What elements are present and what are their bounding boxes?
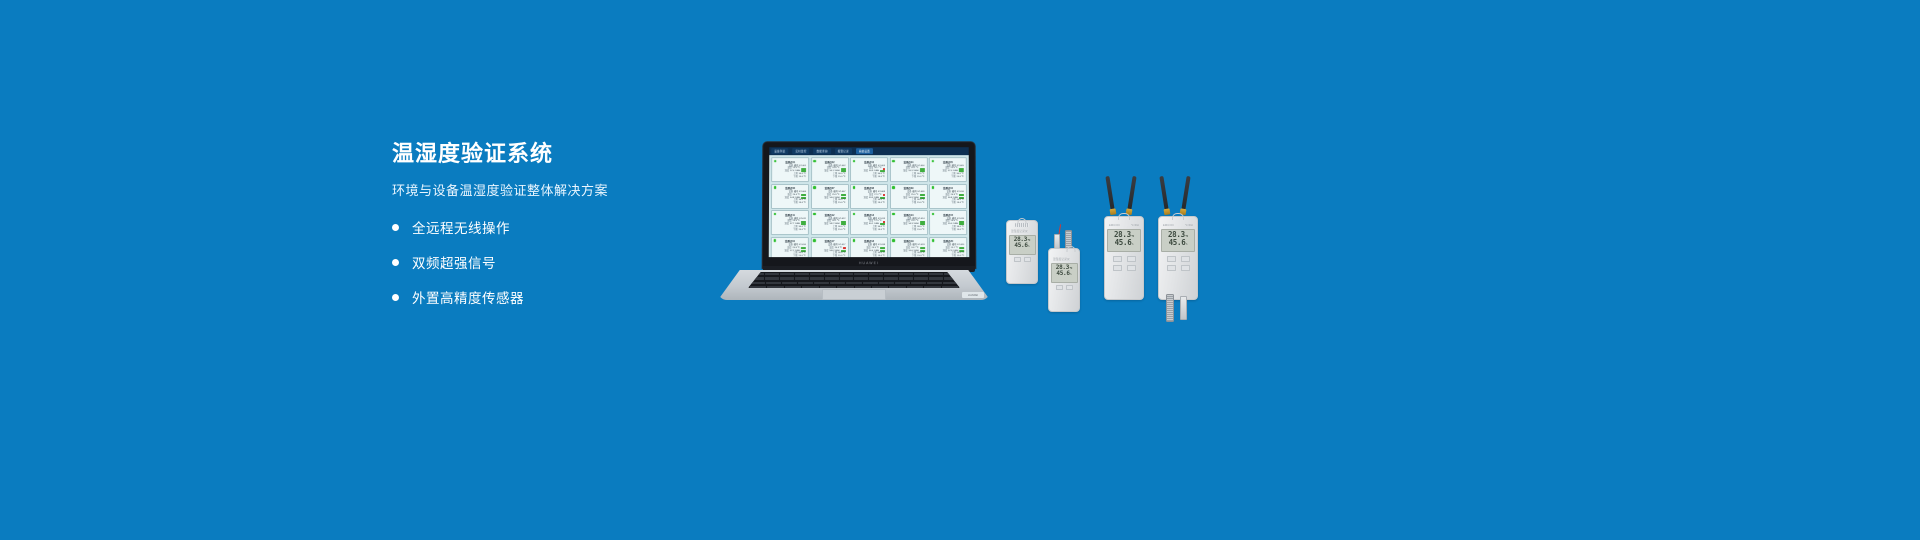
hanger-hook-icon (1066, 246, 1075, 252)
monitor-card[interactable]: 监测点09设备编号 ST-009温度25.0 ℃湿度55.9 %RH上限30.0… (889, 184, 927, 209)
antenna-icon (1105, 176, 1114, 210)
monitor-card-title: 监测点07 (814, 186, 846, 190)
monitor-card[interactable]: 监测点02设备编号 ST-002温度24.8 ℃湿度56.1 %RH上限30.0… (811, 157, 849, 182)
alarm-badge (883, 168, 885, 170)
monitor-card[interactable]: 监测点08设备编号 ST-008温度27.2 ℃湿度59.5 %RH上限30.0… (850, 184, 888, 209)
device-brand-left: 温湿度记录仪 (1011, 229, 1028, 233)
monitor-card-row-key: 湿度 (824, 197, 828, 200)
monitor-card-row-key: 湿度 (943, 250, 947, 253)
device-lcd: 28.3℃ 45.6% (1051, 263, 1078, 283)
device-buttons[interactable] (1105, 265, 1143, 271)
status-led-icon (773, 239, 776, 242)
keyboard-row (748, 285, 960, 288)
monitor-card-title: 监测点19 (893, 239, 925, 243)
alarm-badge (843, 247, 845, 249)
monitor-card-row: 下限15.0 ℃ (853, 202, 885, 205)
device-buttons[interactable] (1049, 285, 1079, 290)
device-button[interactable] (1113, 256, 1122, 262)
device-buttons[interactable] (1159, 256, 1197, 262)
device-button[interactable] (1167, 265, 1176, 271)
status-badge (920, 247, 925, 249)
monitor-card-title: 监测点08 (853, 186, 885, 190)
status-led-icon (852, 212, 855, 215)
device-button[interactable] (1127, 256, 1136, 262)
monitor-card-row-key: 下限 (912, 176, 916, 179)
monitor-card-row-key: 湿度 (903, 250, 907, 253)
monitor-card-row-value: 15.0 ℃ (917, 202, 924, 205)
bullet-dot-icon (392, 259, 399, 266)
device-button[interactable] (1167, 256, 1176, 262)
monitor-card[interactable]: 监测点04设备编号 ST-004温度25.1 ℃湿度55.3 %RH上限30.0… (889, 157, 927, 182)
monitor-card-title: 监测点04 (892, 160, 924, 164)
monitor-card-row: 下限15.0 ℃ (774, 229, 806, 232)
bullet-dot-icon (392, 224, 399, 231)
monitor-card-row: 下限15.0 ℃ (853, 229, 885, 232)
status-led-icon (774, 160, 777, 163)
status-led-icon (813, 239, 816, 242)
monitor-card-row-value: 15.0 ℃ (878, 229, 885, 232)
monitor-card-row-key: 湿度 (824, 223, 828, 226)
humidity-value: 45.6 (1014, 243, 1027, 249)
device-button[interactable] (1056, 285, 1063, 290)
device-button[interactable] (1127, 265, 1136, 271)
list-item: 全远程无线操作 (392, 217, 692, 237)
probe-connector-icon (1054, 234, 1060, 249)
menu-item-alarm-log[interactable]: 报警记录 (835, 148, 852, 154)
monitor-card-title: 监测点10 (932, 186, 964, 190)
monitor-card-row-key: 湿度 (864, 170, 868, 173)
status-badge (959, 168, 964, 170)
humidity-unit: % (1028, 246, 1029, 248)
status-led-icon (892, 160, 895, 163)
humidity-unit: % (1132, 244, 1133, 246)
device-body: 温湿度记录仪 28.3℃ 45.6% (1048, 248, 1080, 312)
monitor-card-title: 监测点17 (813, 239, 845, 243)
device-brand-left: EMCON (1163, 224, 1174, 227)
monitor-card-row-key: 下限 (951, 229, 955, 232)
laptop-screen: 设备列表 实时监控 数据查询 报警记录 系统设置 监测点01设备编号 ST-00… (769, 147, 970, 257)
device-brand-left: 温湿度记录仪 (1053, 257, 1070, 261)
status-led-icon (892, 239, 895, 242)
status-badge (801, 168, 806, 170)
laptop-keyboard[interactable] (748, 272, 960, 288)
feature-label: 全远程无线操作 (412, 217, 510, 237)
monitor-card-row: 下限15.0 ℃ (853, 176, 885, 179)
monitor-card-row: 下限15.0 ℃ (814, 202, 846, 205)
feature-list: 全远程无线操作 双频超强信号 外置高精度传感器 (392, 217, 692, 307)
device-buttons[interactable] (1105, 256, 1143, 262)
device-button[interactable] (1181, 256, 1190, 262)
device-wireless-logger-1: EMCON ℃/RH 28.3℃ 45.6% (1104, 176, 1144, 300)
monitor-card-row-key: 湿度 (824, 170, 828, 173)
monitor-card[interactable]: 监测点17设备编号 ST-017温度26.3 ℃湿度58.6 %RH上限30.0… (810, 237, 848, 258)
device-button[interactable] (1014, 257, 1021, 262)
monitor-card-row-key: 湿度 (903, 197, 907, 200)
device-brand-left: EMCON (1109, 224, 1120, 227)
monitor-card-row-key: 下限 (872, 229, 876, 232)
status-badge (920, 221, 925, 223)
monitor-card-row-value: 15.0 ℃ (917, 229, 924, 232)
status-led-icon (932, 212, 935, 215)
device-lcd: 28.3℃ 45.6% (1161, 229, 1195, 252)
device-wall-mount-logger-probe: 温湿度记录仪 28.3℃ 45.6% (1048, 212, 1080, 312)
monitor-card-row-key: 下限 (912, 202, 916, 205)
page-title: 温湿度验证系统 (392, 142, 692, 166)
device-brand-right: ℃/RH (1131, 224, 1139, 227)
status-led-icon (853, 186, 856, 189)
status-badge (880, 247, 885, 249)
monitor-card-row: 下限15.0 ℃ (932, 202, 964, 205)
status-badge (801, 247, 806, 249)
monitor-card-row-value: 15.0 ℃ (799, 176, 806, 179)
monitor-card-row-value: 15.0 ℃ (799, 202, 806, 205)
status-led-icon (892, 186, 895, 189)
alarm-badge (883, 221, 885, 223)
monitor-card-row-key: 湿度 (864, 223, 868, 226)
monitor-card-title: 监测点06 (774, 186, 806, 190)
probe-connector-icon (1180, 296, 1187, 320)
monitor-card[interactable]: 监测点14设备编号 ST-014温度25.2 ℃湿度56.3 %RH上限30.0… (890, 210, 928, 235)
monitor-card-row-key: 湿度 (943, 197, 947, 200)
device-button[interactable] (1024, 257, 1031, 262)
monitor-card-row-key: 湿度 (903, 170, 907, 173)
device-button[interactable] (1066, 285, 1073, 290)
hanger-hook-icon (1172, 213, 1184, 220)
monitor-card-row: 下限15.0 ℃ (813, 229, 845, 232)
monitor-card[interactable]: 监测点01设备编号 ST-001温度25.3 ℃湿度57.4 %RH上限30.0… (771, 157, 809, 182)
device-body: EMCON ℃/RH 28.3℃ 45.6% (1158, 216, 1198, 300)
monitor-card-row: 下限15.0 ℃ (893, 229, 925, 232)
status-led-icon (813, 186, 816, 189)
status-badge (919, 168, 924, 170)
antenna-icon (1181, 176, 1190, 210)
monitor-card-row-value: 15.0 ℃ (957, 229, 964, 232)
monitor-card-row-key: 湿度 (943, 170, 947, 173)
monitor-card-row: 下限15.0 ℃ (892, 176, 924, 179)
antenna-icon (1127, 176, 1136, 210)
status-led-icon (931, 160, 934, 163)
monitor-card-row-value: 15.0 ℃ (878, 202, 885, 205)
status-led-icon (853, 160, 856, 163)
monitor-card-row-key: 下限 (951, 202, 955, 205)
monitor-card-row-key: 湿度 (785, 170, 789, 173)
feature-label: 双频超强信号 (412, 252, 496, 272)
app-menu-bar: 设备列表 实时监控 数据查询 报警记录 系统设置 (769, 147, 969, 155)
monitor-card-title: 监测点16 (774, 239, 806, 243)
status-badge (959, 194, 964, 196)
device-button[interactable] (1181, 265, 1190, 271)
monitor-card-title: 监测点18 (853, 239, 885, 243)
monitor-card-title: 监测点09 (892, 186, 924, 190)
menu-item-data-query[interactable]: 数据查询 (814, 148, 831, 154)
laptop-lid: 设备列表 实时监控 数据查询 报警记录 系统设置 监测点01设备编号 ST-00… (763, 142, 976, 268)
monitor-card-row-key: 下限 (951, 176, 955, 179)
monitor-card-row-value: 15.0 ℃ (799, 229, 806, 232)
monitor-card[interactable]: 监测点10设备编号 ST-010温度24.9 ℃湿度56.8 %RH上限30.0… (929, 184, 967, 209)
monitor-card-row-key: 湿度 (864, 197, 868, 200)
hero-copy: 温湿度验证系统 环境与设备温湿度验证整体解决方案 全远程无线操作 双频超强信号 … (392, 142, 692, 322)
laptop-product-image: 设备列表 实时监控 数据查询 报警记录 系统设置 监测点01设备编号 ST-00… (718, 142, 990, 300)
humidity-value: 45.6 (1169, 239, 1186, 247)
monitor-card-row-value: 15.0 ℃ (957, 202, 964, 205)
status-badge (959, 221, 964, 223)
device-wall-mount-logger: 温湿度记录仪 28.3℃ 45.6% (1006, 220, 1038, 284)
status-badge (959, 247, 964, 249)
monitor-card-title: 监测点12 (813, 212, 845, 216)
monitor-card-row: 下限15.0 ℃ (814, 176, 846, 179)
menu-item-realtime-monitor[interactable]: 实时监控 (792, 148, 809, 154)
monitor-card[interactable]: 监测点16设备编号 ST-016温度25.8 ℃湿度57.2 %RH上限30.0… (771, 237, 809, 258)
monitor-card[interactable]: 监测点07设备编号 ST-007温度25.9 ℃湿度56.6 %RH上限30.0… (810, 184, 848, 209)
monitor-card[interactable]: 监测点19设备编号 ST-019温度24.7 ℃湿度55.6 %RH上限30.0… (890, 237, 928, 258)
status-badge (919, 194, 924, 196)
monitor-card-row-key: 下限 (793, 202, 797, 205)
monitor-card[interactable]: 监测点03设备编号 ST-003温度26.7 ℃湿度58.9 %RH上限30.0… (850, 157, 888, 182)
list-item: 外置高精度传感器 (392, 287, 692, 307)
monitor-card-row: 下限15.0 ℃ (774, 176, 806, 179)
monitor-card-title: 监测点02 (814, 160, 846, 164)
device-buttons[interactable] (1007, 257, 1037, 262)
device-buttons[interactable] (1159, 265, 1197, 271)
monitor-card-row: 下限15.0 ℃ (932, 229, 964, 232)
sensor-device-group: 温湿度记录仪 28.3℃ 45.6% 温湿度记录仪 (1000, 168, 1230, 328)
humidity-unit: % (1070, 274, 1071, 276)
monitor-card-title: 监测点15 (932, 212, 964, 216)
humidity-unit: % (1186, 244, 1187, 246)
monitor-card-grid: 监测点01设备编号 ST-001温度25.3 ℃湿度57.4 %RH上限30.0… (769, 155, 970, 257)
monitor-card-row-key: 下限 (833, 176, 837, 179)
device-body: 温湿度记录仪 28.3℃ 45.6% (1006, 220, 1038, 284)
menu-item-device-list[interactable]: 设备列表 (771, 148, 788, 154)
temperature-unit: ℃ (1185, 236, 1188, 238)
humidity-value: 45.6 (1115, 239, 1132, 247)
list-item: 双频超强信号 (392, 252, 692, 272)
laptop-trackpad[interactable] (822, 289, 886, 300)
monitor-card-row-key: 湿度 (903, 223, 907, 226)
monitor-card-row: 下限15.0 ℃ (892, 202, 924, 205)
monitor-card-title: 监测点03 (853, 160, 885, 164)
feature-label: 外置高精度传感器 (412, 287, 524, 307)
monitor-card[interactable]: 监测点18设备编号 ST-018温度25.5 ℃湿度56.4 %RH上限30.0… (850, 237, 888, 258)
status-led-icon (852, 239, 855, 242)
sensor-probe-icon (1166, 294, 1174, 322)
antenna-icon (1159, 176, 1168, 210)
bullet-dot-icon (392, 294, 399, 301)
monitor-card-row-key: 湿度 (785, 197, 789, 200)
device-brand-right: ℃/RH (1185, 224, 1193, 227)
page-subtitle: 环境与设备温湿度验证整体解决方案 (392, 180, 692, 199)
monitor-card-title: 监测点11 (774, 212, 806, 216)
monitor-card-row-key: 下限 (872, 202, 876, 205)
status-led-icon (932, 239, 935, 242)
humidity-value: 45.6 (1056, 271, 1069, 277)
monitor-card-row-value: 15.0 ℃ (957, 176, 964, 179)
monitor-card-row-key: 湿度 (943, 223, 947, 226)
device-button[interactable] (1113, 265, 1122, 271)
monitor-card[interactable]: 监测点05设备编号 ST-005温度25.6 ℃湿度57.0 %RH上限30.0… (929, 157, 967, 182)
monitor-card-row-value: 15.0 ℃ (878, 176, 885, 179)
monitor-card[interactable]: 监测点06设备编号 ST-006温度24.4 ℃湿度54.8 %RH上限30.0… (771, 184, 809, 209)
temperature-unit: ℃ (1131, 236, 1134, 238)
device-wireless-logger-2: EMCON ℃/RH 28.3℃ 45.6% (1158, 176, 1198, 300)
monitor-card-row-key: 下限 (912, 229, 916, 232)
monitor-card-row-key: 下限 (793, 229, 797, 232)
menu-item-settings[interactable]: 系统设置 (856, 148, 873, 154)
status-badge (841, 194, 846, 196)
monitor-card-title: 监测点13 (853, 212, 885, 216)
status-badge (841, 168, 846, 170)
alarm-badge (883, 194, 885, 196)
monitor-card-row-value: 15.0 ℃ (917, 176, 924, 179)
hero-banner: 温湿度验证系统 环境与设备温湿度验证整体解决方案 全远程无线操作 双频超强信号 … (0, 0, 1920, 540)
monitor-card-title: 监测点20 (932, 239, 964, 243)
monitor-card[interactable]: 监测点12设备编号 ST-012温度26.1 ℃湿度58.2 %RH上限30.0… (810, 210, 848, 235)
monitor-card-row-key: 下限 (793, 176, 797, 179)
monitor-card-row-key: 湿度 (864, 250, 868, 253)
status-badge (801, 194, 806, 196)
monitor-card[interactable]: 监测点13设备编号 ST-013温度27.5 ℃湿度60.1 %RH上限30.0… (850, 210, 888, 235)
monitor-card-title: 监测点01 (774, 160, 806, 164)
device-body: EMCON ℃/RH 28.3℃ 45.6% (1104, 216, 1144, 300)
monitor-card-row-key: 下限 (872, 176, 876, 179)
status-led-icon (813, 212, 816, 215)
monitor-card-row: 下限15.0 ℃ (932, 176, 964, 179)
monitor-card[interactable]: 监测点11设备编号 ST-011温度25.4 ℃湿度57.7 %RH上限30.0… (771, 210, 809, 235)
monitor-card-title: 监测点05 (932, 160, 964, 164)
device-lcd: 28.3℃ 45.6% (1009, 235, 1036, 255)
monitor-card[interactable]: 监测点20设备编号 ST-020温度25.7 ℃湿度57.9 %RH上限30.0… (929, 237, 967, 258)
monitor-card-row-key: 湿度 (784, 250, 788, 253)
monitor-card-row-key: 湿度 (824, 250, 828, 253)
monitor-card-row: 下限15.0 ℃ (774, 202, 806, 205)
monitor-card-row-key: 湿度 (785, 223, 789, 226)
monitor-card-title: 监测点14 (893, 212, 925, 216)
monitor-card-row-value: 15.0 ℃ (838, 229, 845, 232)
device-lcd: 28.3℃ 45.6% (1107, 229, 1141, 252)
laptop-badge: HUAWEI (962, 292, 984, 298)
monitor-card[interactable]: 监测点15设备编号 ST-015温度24.6 ℃湿度55.0 %RH上限30.0… (929, 210, 967, 235)
monitor-card-row-key: 下限 (833, 229, 837, 232)
status-led-icon (931, 186, 934, 189)
monitor-card-row-value: 15.0 ℃ (838, 176, 845, 179)
monitor-card-row-value: 15.0 ℃ (838, 202, 845, 205)
hanger-hook-icon (1118, 213, 1130, 220)
status-led-icon (813, 160, 816, 163)
hanger-hook-icon (1018, 218, 1027, 224)
status-led-icon (892, 212, 895, 215)
status-led-icon (773, 212, 776, 215)
status-badge (840, 221, 845, 223)
monitor-card-row-key: 下限 (833, 202, 837, 205)
status-badge (801, 221, 806, 223)
status-led-icon (774, 186, 777, 189)
